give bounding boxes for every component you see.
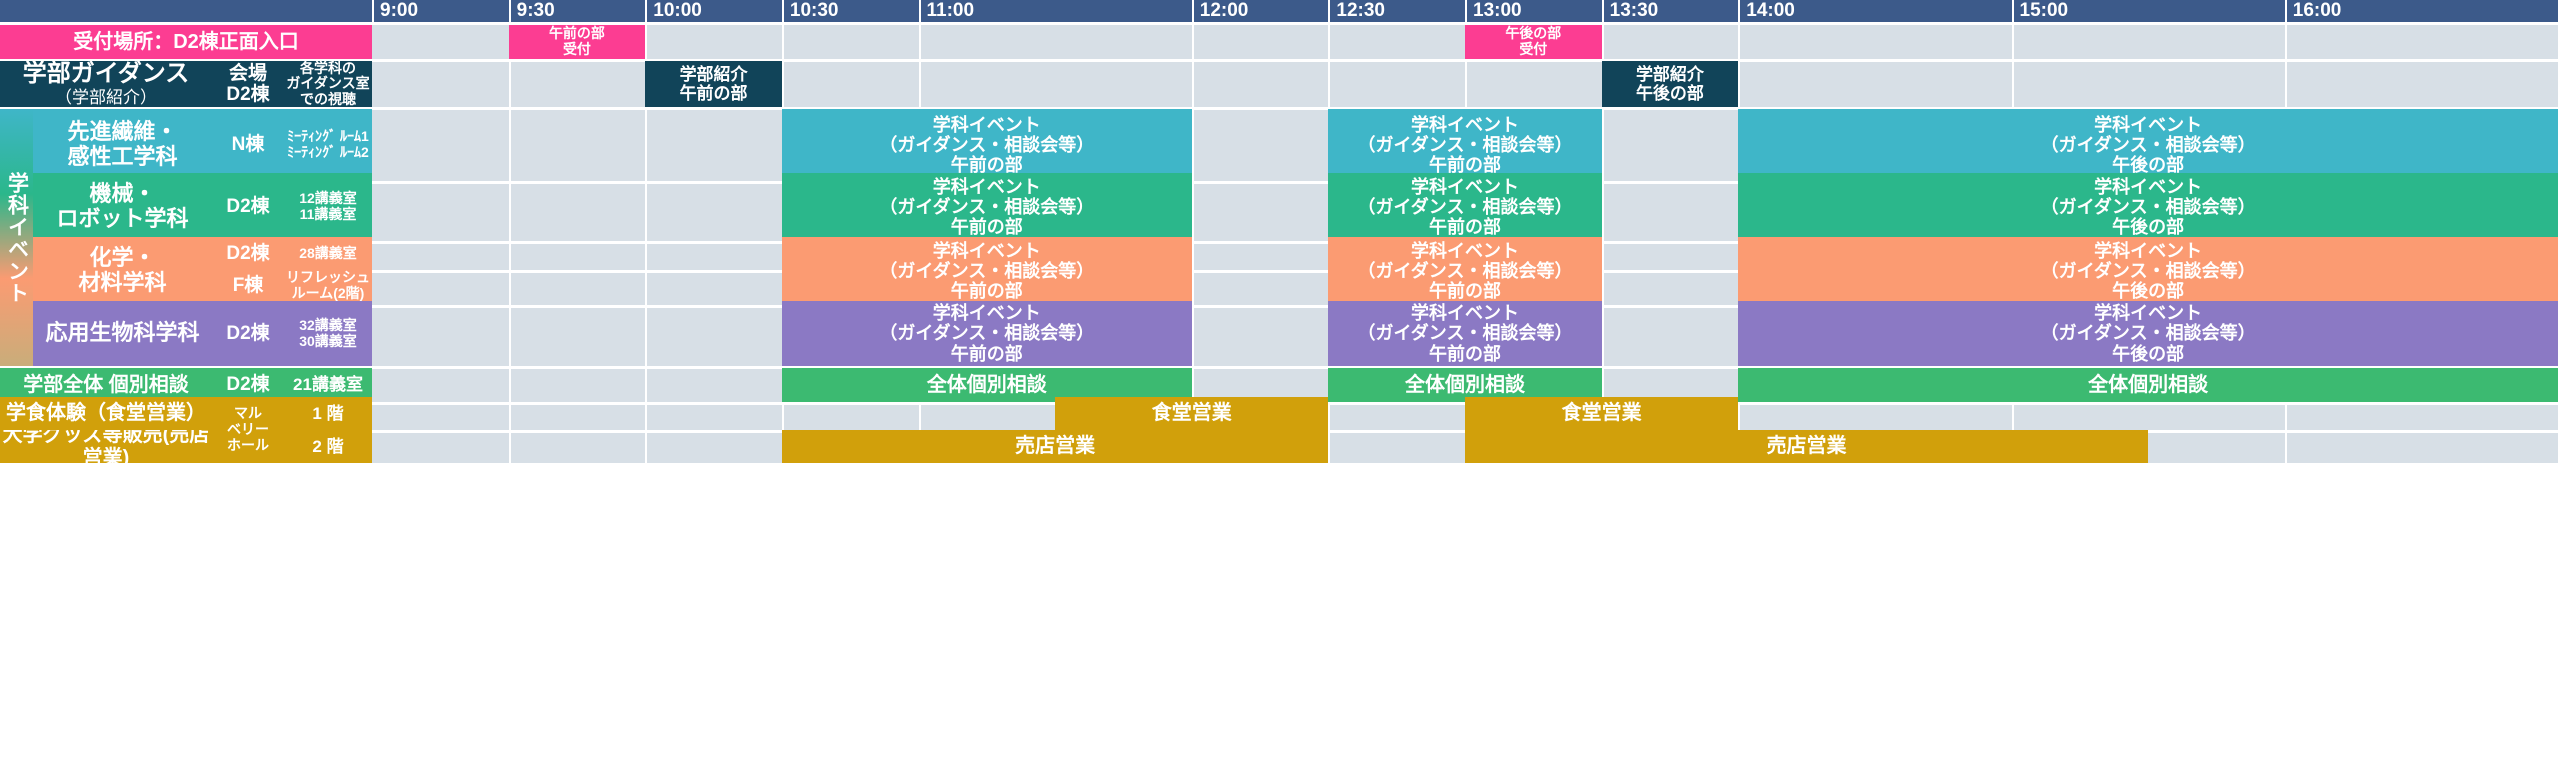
time-tick-1600: 16:00 xyxy=(2285,0,2558,22)
text: 学科イベント （ガイダンス・相談会等） 午後の部 xyxy=(2041,115,2256,175)
time-tick-1200: 12:00 xyxy=(1192,0,1329,22)
dept-event-0-0[interactable]: 学科イベント （ガイダンス・相談会等） 午前の部 xyxy=(782,109,1192,181)
guidance-title-sub: （学部紹介） xyxy=(23,88,190,107)
cafeteria-room: 1 階 xyxy=(284,397,372,430)
text: 学科イベント （ガイダンス・相談会等） 午前の部 xyxy=(1358,115,1573,175)
dept-venue-1-0: D2棟 xyxy=(212,173,284,241)
text: 売店営業 xyxy=(1767,435,1847,457)
text: 学科イベント （ガイダンス・相談会等） 午後の部 xyxy=(2041,177,2256,237)
text: 会場 D2棟 xyxy=(226,63,269,106)
text: 全体個別相談 xyxy=(1405,374,1525,396)
dept-room-1-0: 12講義室 11講義室 xyxy=(284,173,372,241)
text: 12講義室 11講義室 xyxy=(299,191,357,222)
dept-venue-2-1: F棟 xyxy=(212,266,284,305)
text: D2棟 xyxy=(226,323,269,344)
text: マル ベリー ホール xyxy=(227,406,269,453)
shop-name: 大学グッズ等販売(売店営業) xyxy=(0,430,212,463)
dept-name-2: 化学・ 材料学科 xyxy=(33,237,212,305)
dept-event-3-0[interactable]: 学科イベント （ガイダンス・相談会等） 午前の部 xyxy=(782,301,1192,366)
guidance-venue: 会場 D2棟 xyxy=(212,61,284,107)
time-tick-900: 9:00 xyxy=(372,0,509,22)
text: F棟 xyxy=(233,275,264,296)
text: D2棟 xyxy=(226,196,269,217)
dept-room-2-1: リフレッシュ ルーム(2階) xyxy=(284,266,372,305)
dept-event-1-0[interactable]: 学科イベント （ガイダンス・相談会等） 午前の部 xyxy=(782,173,1192,241)
text: 午前の部 受付 xyxy=(549,26,605,57)
text: 食堂営業 xyxy=(1562,402,1642,424)
text: D2棟 xyxy=(226,374,269,395)
text: 機械・ ロボット学科 xyxy=(56,182,188,231)
dept-name-3: 応用生物科学科 xyxy=(33,301,212,366)
text: ﾐｰﾃｨﾝｸﾞ ﾙｰﾑ1 ﾐｰﾃｨﾝｸﾞ ﾙｰﾑ2 xyxy=(287,129,369,160)
text: D2棟 xyxy=(226,243,269,264)
dept-event-1-1[interactable]: 学科イベント （ガイダンス・相談会等） 午前の部 xyxy=(1328,173,1601,241)
text: 学科イベント （ガイダンス・相談会等） 午前の部 xyxy=(879,303,1094,363)
dept-event-2-0[interactable]: 学科イベント （ガイダンス・相談会等） 午前の部 xyxy=(782,237,1192,305)
dept-event-0-2[interactable]: 学科イベント （ガイダンス・相談会等） 午後の部 xyxy=(1738,109,2558,181)
text: 学部紹介 午後の部 xyxy=(1636,65,1704,103)
dept-room-0-0: ﾐｰﾃｨﾝｸﾞ ﾙｰﾑ1 ﾐｰﾃｨﾝｸﾞ ﾙｰﾑ2 xyxy=(284,109,372,181)
text: 学科イベント （ガイダンス・相談会等） 午後の部 xyxy=(2041,241,2256,301)
dept-event-3-2[interactable]: 学科イベント （ガイダンス・相談会等） 午後の部 xyxy=(1738,301,2558,366)
text: 学科イベント （ガイダンス・相談会等） 午前の部 xyxy=(879,241,1094,301)
time-tick-1000: 10:00 xyxy=(645,0,782,22)
reception-block-0[interactable]: 午前の部 受付 xyxy=(509,25,646,59)
text: 1 階 xyxy=(312,404,343,423)
section-label-gakka-event: 学科イベント xyxy=(0,109,33,366)
text: 28講義室 xyxy=(299,246,357,262)
shop-room: 2 階 xyxy=(284,430,372,463)
text: 学科イベント （ガイダンス・相談会等） 午前の部 xyxy=(1358,241,1573,301)
text: 大学グッズ等販売(売店営業) xyxy=(0,430,212,463)
cafeteria-event-0[interactable]: 食堂営業 xyxy=(1055,397,1328,430)
grid-line xyxy=(509,25,511,463)
dept-event-0-1[interactable]: 学科イベント （ガイダンス・相談会等） 午前の部 xyxy=(1328,109,1601,181)
consultation-event-2[interactable]: 全体個別相談 xyxy=(1738,368,2558,402)
text: 午後の部 受付 xyxy=(1505,26,1561,57)
guidance-block-1[interactable]: 学部紹介 午後の部 xyxy=(1602,61,1739,107)
dept-name-0: 先進繊維・ 感性工学科 xyxy=(33,109,212,181)
cafeteria-event-1[interactable]: 食堂営業 xyxy=(1465,397,1738,430)
time-tick-1400: 14:00 xyxy=(1738,0,2011,22)
text: 食堂営業 xyxy=(1152,402,1232,424)
text: 先進繊維・ 感性工学科 xyxy=(67,120,177,169)
text: 売店営業 xyxy=(1015,435,1095,457)
row-divider xyxy=(0,463,2560,466)
shop-event-0[interactable]: 売店営業 xyxy=(782,430,1329,463)
cafeteria-shop-venue: マル ベリー ホール xyxy=(212,397,284,463)
schedule-timetable: 9:009:3010:0010:3011:0012:0012:3013:0013… xyxy=(0,0,2560,763)
text: 学科イベント （ガイダンス・相談会等） 午前の部 xyxy=(1358,177,1573,237)
text: 全体個別相談 xyxy=(927,374,1047,396)
time-tick-1300: 13:00 xyxy=(1465,0,1602,22)
guidance-title: 学部ガイダンス（学部紹介） xyxy=(0,61,212,107)
text: 全体個別相談 xyxy=(2088,374,2208,396)
text: 受付場所：D2棟正面入口 xyxy=(73,31,299,53)
text: 学部全体 個別相談 xyxy=(23,374,189,396)
text: 2 階 xyxy=(312,437,343,456)
text: 32講義室 30講義室 xyxy=(299,318,357,349)
guidance-title-main: 学部ガイダンス xyxy=(23,61,190,88)
time-tick-1330: 13:30 xyxy=(1602,0,1739,22)
text: N棟 xyxy=(232,134,265,155)
text: 化学・ 材料学科 xyxy=(78,246,166,295)
reception-location-label: 受付場所：D2棟正面入口 xyxy=(0,25,372,59)
dept-event-2-2[interactable]: 学科イベント （ガイダンス・相談会等） 午後の部 xyxy=(1738,237,2558,305)
time-tick-1030: 10:30 xyxy=(782,0,919,22)
guidance-title-text: 学部ガイダンス（学部紹介） xyxy=(23,61,190,107)
text: 21講義室 xyxy=(293,375,363,394)
dept-event-3-1[interactable]: 学科イベント （ガイダンス・相談会等） 午前の部 xyxy=(1328,301,1601,366)
guidance-room: 各学科の ガイダンス室 での視聴 xyxy=(284,61,372,107)
dept-room-3-0: 32講義室 30講義室 xyxy=(284,301,372,366)
row-divider xyxy=(0,59,2560,62)
guidance-block-0[interactable]: 学部紹介 午前の部 xyxy=(645,61,782,107)
dept-event-1-2[interactable]: 学科イベント （ガイダンス・相談会等） 午後の部 xyxy=(1738,173,2558,241)
text: 学科イベント （ガイダンス・相談会等） 午後の部 xyxy=(2041,303,2256,363)
text: 学部紹介 午前の部 xyxy=(680,65,748,103)
dept-event-2-1[interactable]: 学科イベント （ガイダンス・相談会等） 午前の部 xyxy=(1328,237,1601,305)
time-tick-1100: 11:00 xyxy=(919,0,1192,22)
text: 学食体験（食堂営業） xyxy=(6,402,206,424)
time-tick-930: 9:30 xyxy=(509,0,646,22)
shop-event-1[interactable]: 売店営業 xyxy=(1465,430,2148,463)
time-tick-1230: 12:30 xyxy=(1328,0,1465,22)
reception-block-1[interactable]: 午後の部 受付 xyxy=(1465,25,1602,59)
text: 応用生物科学科 xyxy=(45,321,199,346)
text: 学科イベント （ガイダンス・相談会等） 午前の部 xyxy=(879,115,1094,175)
text: 学科イベント （ガイダンス・相談会等） 午前の部 xyxy=(879,177,1094,237)
time-tick-1500: 15:00 xyxy=(2012,0,2285,22)
dept-venue-3-0: D2棟 xyxy=(212,301,284,366)
text: リフレッシュ ルーム(2階) xyxy=(286,270,370,301)
dept-name-1: 機械・ ロボット学科 xyxy=(33,173,212,241)
cafeteria-name: 学食体験（食堂営業） xyxy=(0,397,212,430)
text: 各学科の ガイダンス室 での視聴 xyxy=(286,61,369,107)
text: 学科イベント （ガイダンス・相談会等） 午前の部 xyxy=(1358,303,1573,363)
dept-venue-0-0: N棟 xyxy=(212,109,284,181)
